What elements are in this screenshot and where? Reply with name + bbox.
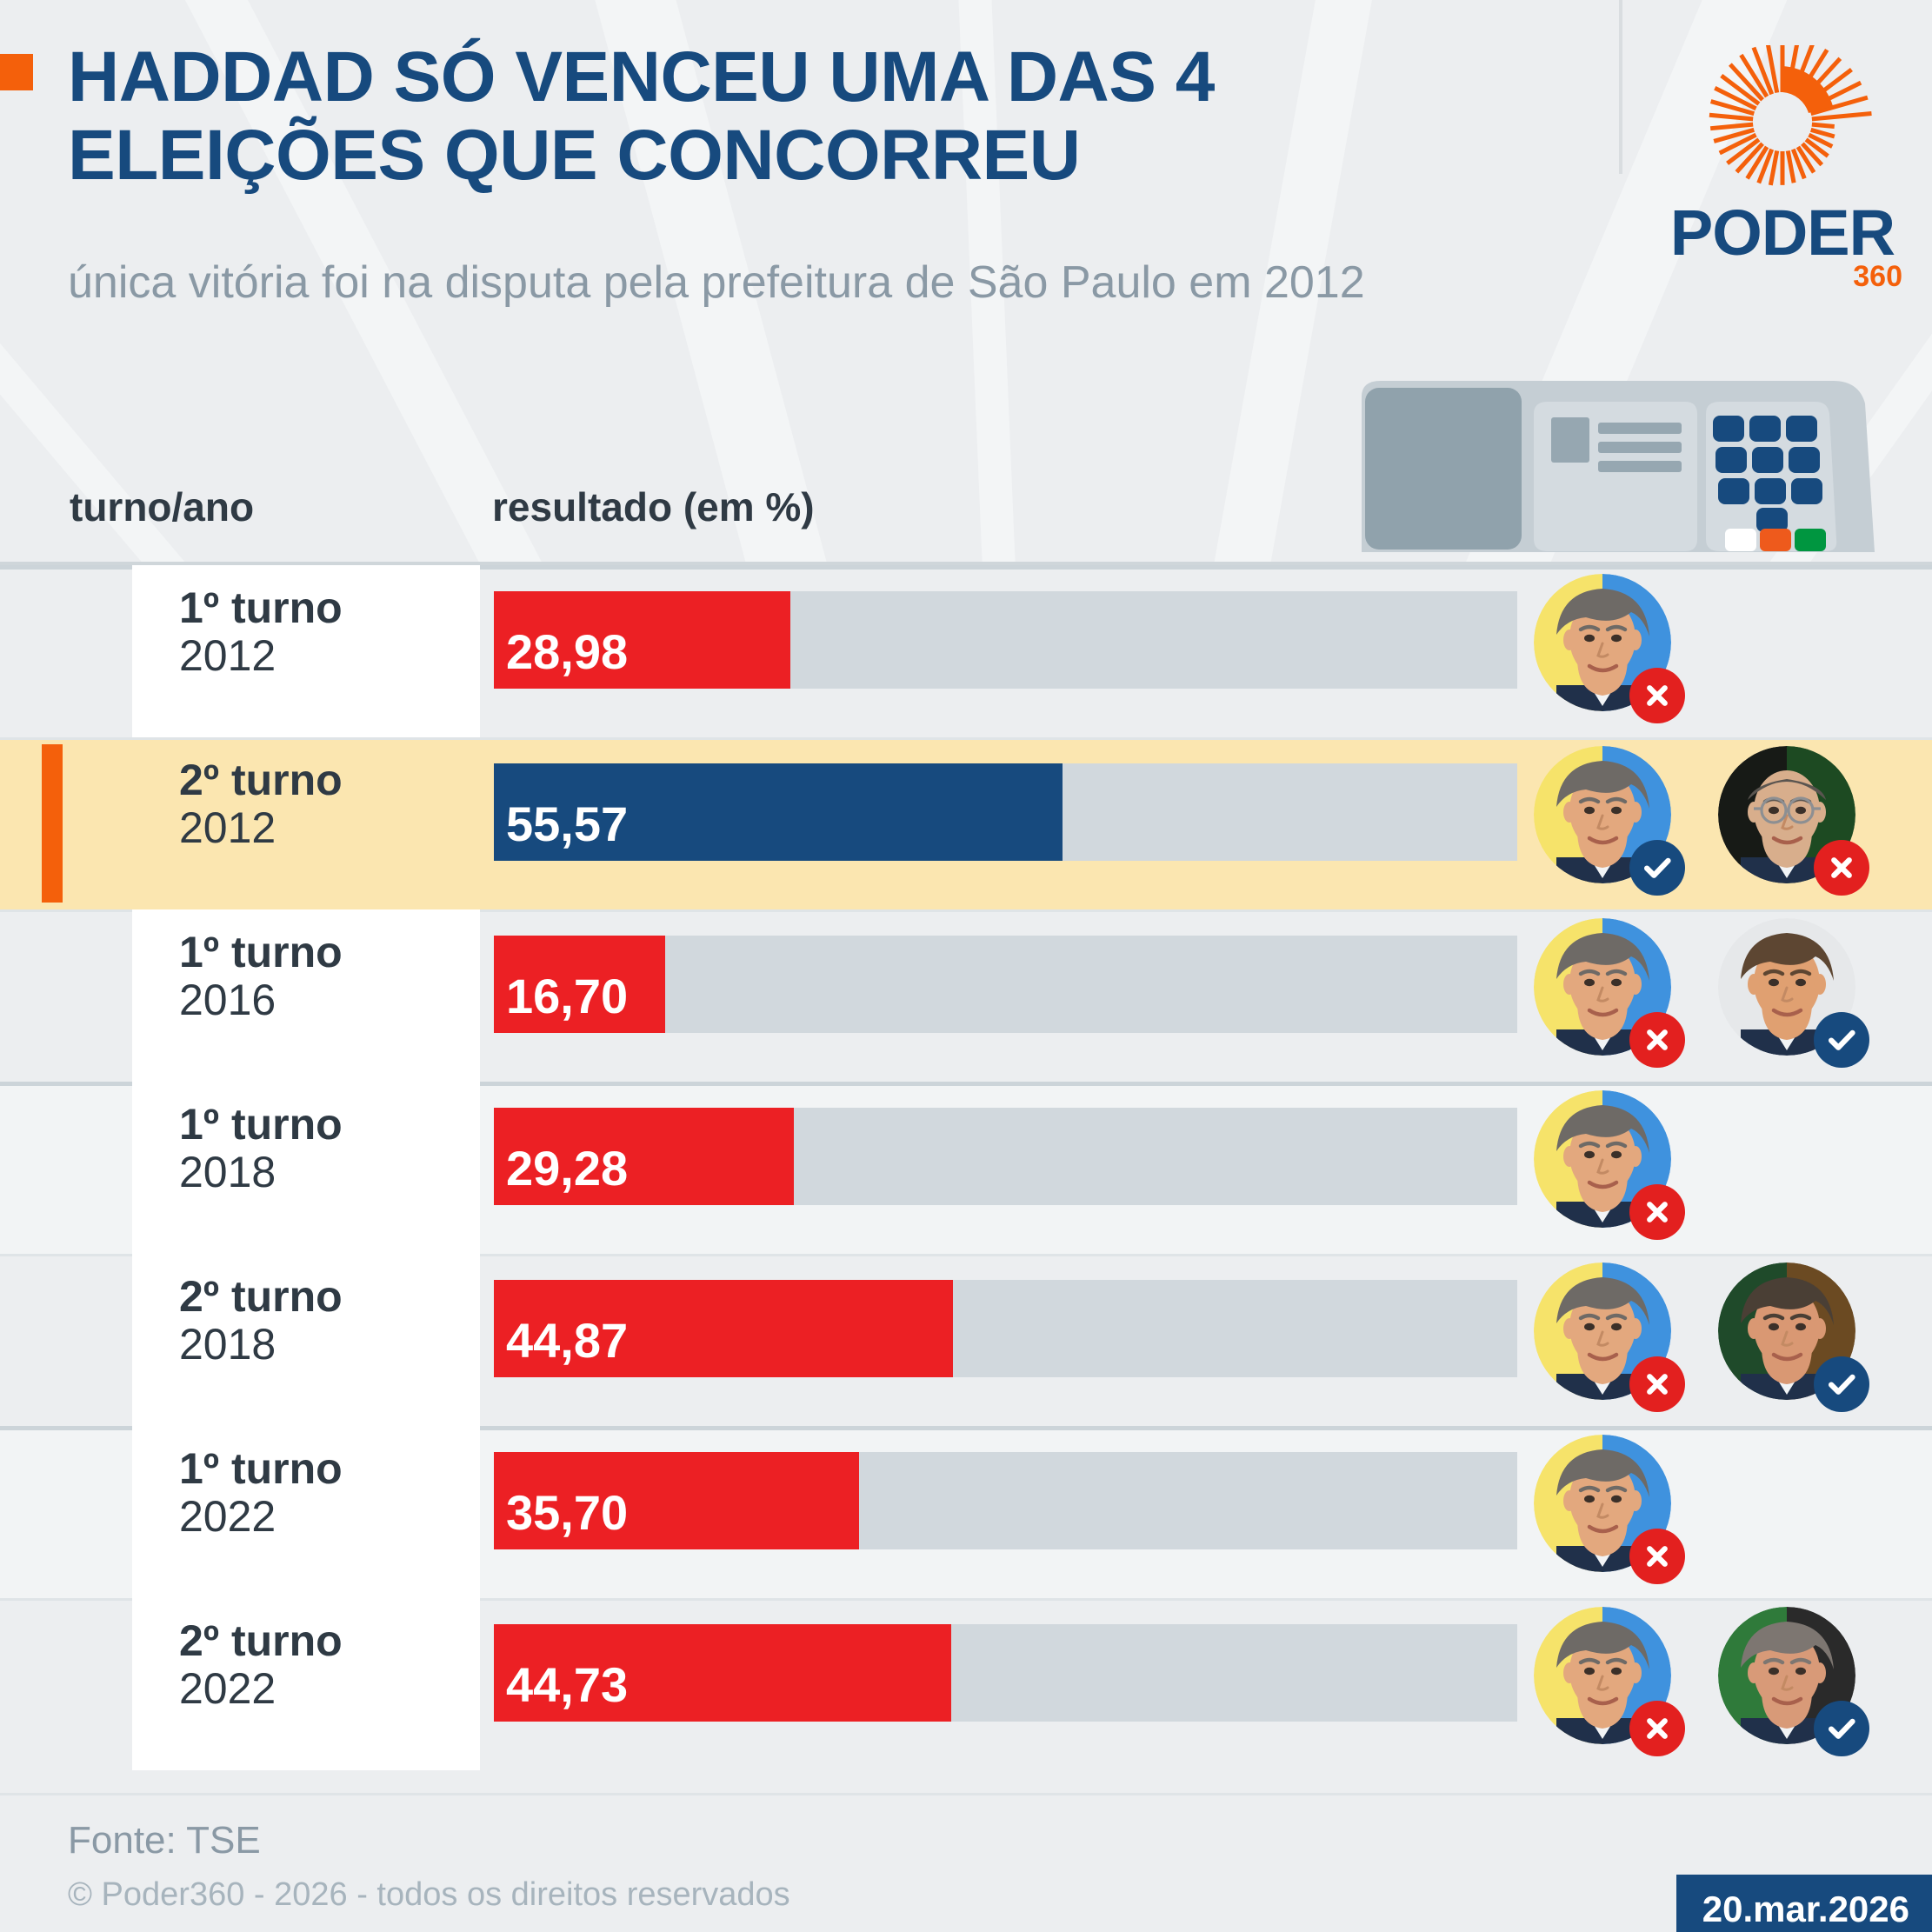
- turno-label: 1º turno: [179, 1101, 480, 1148]
- turno-ano-cell: 1º turno2012: [132, 565, 480, 737]
- logo-wordmark: PODER: [1652, 202, 1913, 265]
- orange-accent-marker: [0, 54, 33, 90]
- candidate-haddad: [1534, 918, 1689, 1073]
- cross-icon: [1629, 1356, 1685, 1412]
- bar-value-label: 29,28: [494, 1140, 628, 1205]
- table-row: 2º turno201255,57: [0, 737, 1932, 909]
- cross-icon: [1629, 1529, 1685, 1584]
- bar-track: 55,57: [494, 763, 1517, 861]
- candidate-tarcisio-de-freitas: [1718, 1607, 1873, 1762]
- bar-value-label: 16,70: [494, 968, 628, 1033]
- turno-ano-cell: 1º turno2018: [132, 1082, 480, 1254]
- table-row: 1º turno201228,98: [0, 565, 1932, 737]
- ano-label: 2022: [179, 1492, 480, 1541]
- table-row: 1º turno201829,28: [0, 1082, 1932, 1254]
- bar-value-label: 44,87: [494, 1312, 628, 1377]
- candidate-joao-doria: [1718, 918, 1873, 1073]
- table-row: 1º turno202235,70: [0, 1426, 1932, 1598]
- copyright-label: © Poder360 - 2026 - todos os direitos re…: [68, 1876, 790, 1914]
- bar-track: 16,70: [494, 936, 1517, 1033]
- ano-label: 2018: [179, 1320, 480, 1369]
- bar-value-label: 28,98: [494, 623, 628, 689]
- ano-label: 2016: [179, 976, 480, 1024]
- bar-track: 29,28: [494, 1108, 1517, 1205]
- bar-track: 35,70: [494, 1452, 1517, 1549]
- date-badge: 20.mar.2026: [1676, 1875, 1932, 1932]
- result-bar: 28,98: [494, 591, 790, 689]
- check-icon: [1814, 1701, 1869, 1756]
- sunburst-icon: [1652, 45, 1913, 198]
- result-bar: 35,70: [494, 1452, 859, 1549]
- table-row: 2º turno202244,73: [0, 1598, 1932, 1770]
- candidate-haddad: [1534, 574, 1689, 729]
- candidate-haddad: [1534, 1435, 1689, 1589]
- ano-label: 2012: [179, 631, 480, 680]
- turno-label: 2º turno: [179, 1273, 480, 1320]
- turno-ano-cell: 2º turno2022: [132, 1598, 480, 1770]
- result-bar: 44,73: [494, 1624, 951, 1722]
- result-bar: 44,87: [494, 1280, 953, 1377]
- result-bar: 55,57: [494, 763, 1063, 861]
- results-table: Prefeitura - SP1º turno201228,982º turno…: [0, 565, 1932, 1770]
- candidate-haddad: [1534, 1262, 1689, 1417]
- column-header-resultado: resultado (em %): [492, 483, 815, 530]
- turno-ano-cell: 1º turno2022: [132, 1426, 480, 1598]
- ano-label: 2012: [179, 803, 480, 852]
- results-group: Prefeitura - SP1º turno201228,982º turno…: [0, 565, 1932, 1082]
- logo-divider: [1619, 0, 1622, 174]
- result-bar: 29,28: [494, 1108, 794, 1205]
- candidate-jair-bolsonaro: [1718, 1262, 1873, 1417]
- candidate-haddad: [1534, 746, 1689, 901]
- turno-ano-cell: 2º turno2012: [132, 737, 480, 909]
- bar-track: 44,73: [494, 1624, 1517, 1722]
- electronic-voting-machine-icon: [1353, 374, 1875, 561]
- turno-label: 1º turno: [179, 929, 480, 976]
- highlight-marker: [42, 744, 63, 903]
- footer-rule: [0, 1793, 1932, 1795]
- ano-label: 2022: [179, 1664, 480, 1713]
- table-row: 1º turno201616,70: [0, 909, 1932, 1082]
- results-group: Presidência1º turno201829,282º turno2018…: [0, 1082, 1932, 1426]
- cross-icon: [1629, 1012, 1685, 1068]
- turno-label: 1º turno: [179, 584, 480, 631]
- turno-label: 2º turno: [179, 1617, 480, 1664]
- candidate-haddad: [1534, 1607, 1689, 1762]
- bar-track: 28,98: [494, 591, 1517, 689]
- check-icon: [1814, 1012, 1869, 1068]
- bar-track: 44,87: [494, 1280, 1517, 1377]
- poder360-logo: PODER 360: [1652, 45, 1913, 294]
- turno-ano-cell: 2º turno2018: [132, 1254, 480, 1426]
- cross-icon: [1629, 1701, 1685, 1756]
- results-group: Governo - SP1º turno202235,702º turno202…: [0, 1426, 1932, 1770]
- cross-icon: [1814, 840, 1869, 896]
- cross-icon: [1629, 668, 1685, 723]
- column-header-turno-ano: turno/ano: [70, 483, 254, 530]
- infographic-root: HADDAD SÓ VENCEU UMA DAS 4 ELEIÇÕES QUE …: [0, 0, 1932, 1932]
- cross-icon: [1629, 1184, 1685, 1240]
- table-row: 2º turno201844,87: [0, 1254, 1932, 1426]
- turno-ano-cell: 1º turno2016: [132, 909, 480, 1082]
- turno-label: 2º turno: [179, 756, 480, 803]
- result-bar: 16,70: [494, 936, 665, 1033]
- turno-label: 1º turno: [179, 1445, 480, 1492]
- candidate-jose-serra: [1718, 746, 1873, 901]
- check-icon: [1629, 840, 1685, 896]
- ano-label: 2018: [179, 1148, 480, 1196]
- check-icon: [1814, 1356, 1869, 1412]
- bar-value-label: 55,57: [494, 796, 628, 861]
- bar-value-label: 44,73: [494, 1656, 628, 1722]
- candidate-haddad: [1534, 1090, 1689, 1245]
- bar-value-label: 35,70: [494, 1484, 628, 1549]
- page-subtitle: única vitória foi na disputa pela prefei…: [68, 254, 1494, 312]
- page-title: HADDAD SÓ VENCEU UMA DAS 4 ELEIÇÕES QUE …: [68, 38, 1494, 195]
- source-label: Fonte: TSE: [68, 1819, 261, 1862]
